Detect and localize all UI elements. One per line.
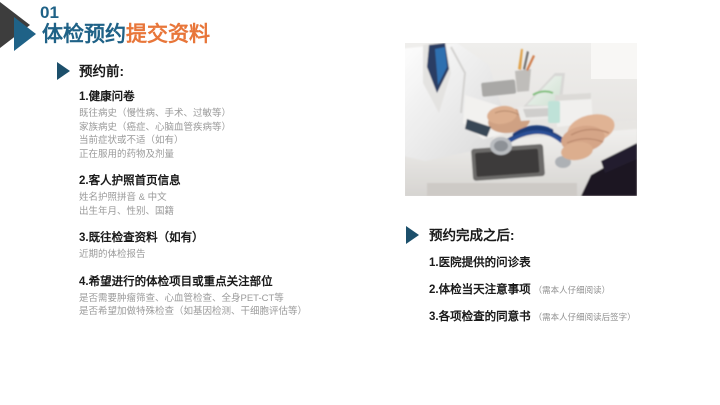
list-item: 2.体检当天注意事项（需本人仔细阅读） (429, 281, 706, 298)
block-line: 是否希望加做特殊检查（如基因检测、干细胞评估等） (79, 305, 387, 319)
list-item: 3.既往检查资料（如有） 近期的体检报告 (79, 230, 387, 262)
after-appointment-heading-label: 预约完成之后: (429, 227, 515, 244)
block-line: 姓名护照拼音 & 中文 (79, 191, 387, 205)
block-line: 是否需要肿瘤筛查、心血管检查、全身PET-CT等 (79, 292, 387, 306)
before-appointment-heading-label: 预约前: (79, 63, 124, 80)
after-appointment-section: 预约完成之后: 1.医院提供的问诊表 2.体检当天注意事项（需本人仔细阅读） 3… (406, 226, 706, 325)
list-item: 3.各项检查的同意书（需本人仔细阅读后签字） (429, 308, 706, 325)
block-title: 2.客人护照首页信息 (79, 173, 387, 189)
block-title: 1.健康问卷 (79, 89, 387, 105)
section-number: 01 (40, 3, 59, 23)
consultation-photo (405, 43, 637, 196)
after-appointment-heading: 预约完成之后: (406, 226, 706, 244)
before-appointment-blocks: 1.健康问卷 既往病史（慢性病、手术、过敏等） 家族病史（癌症、心脑血管疾病等）… (57, 89, 387, 319)
page-title: 体检预约提交资料 (42, 22, 210, 48)
before-appointment-heading: 预约前: (57, 62, 387, 80)
before-appointment-section: 预约前: 1.健康问卷 既往病史（慢性病、手术、过敏等） 家族病史（癌症、心脑血… (57, 62, 387, 319)
list-item-label: 1.医院提供的问诊表 (429, 257, 531, 269)
arrow-bullet-icon (406, 226, 419, 244)
after-appointment-items: 1.医院提供的问诊表 2.体检当天注意事项（需本人仔细阅读） 3.各项检查的同意… (406, 254, 706, 325)
list-item-label: 2.体检当天注意事项 (429, 284, 531, 296)
block-title: 4.希望进行的体检项目或重点关注部位 (79, 274, 387, 290)
page-title-main: 体检预约 (42, 23, 126, 46)
block-line: 近期的体检报告 (79, 248, 387, 262)
block-line: 正在服用的药物及剂量 (79, 148, 387, 162)
list-item: 1.医院提供的问诊表 (429, 254, 706, 271)
block-line: 家族病史（癌症、心脑血管疾病等） (79, 121, 387, 135)
list-item-label: 3.各项检查的同意书 (429, 311, 531, 323)
list-item-note: （需本人仔细阅读） (534, 285, 611, 295)
list-item: 2.客人护照首页信息 姓名护照拼音 & 中文 出生年月、性别、国籍 (79, 173, 387, 218)
block-line: 当前症状或不适（如有） (79, 134, 387, 148)
block-line: 既往病史（慢性病、手术、过敏等） (79, 107, 387, 121)
decorative-blue-triangle-icon (14, 17, 36, 51)
block-title: 3.既往检查资料（如有） (79, 230, 387, 246)
page-title-accent: 提交资料 (126, 23, 210, 46)
block-line: 出生年月、性别、国籍 (79, 205, 387, 219)
list-item: 4.希望进行的体检项目或重点关注部位 是否需要肿瘤筛查、心血管检查、全身PET-… (79, 274, 387, 319)
list-item: 1.健康问卷 既往病史（慢性病、手术、过敏等） 家族病史（癌症、心脑血管疾病等）… (79, 89, 387, 161)
arrow-bullet-icon (57, 62, 70, 80)
list-item-note: （需本人仔细阅读后签字） (534, 312, 636, 322)
